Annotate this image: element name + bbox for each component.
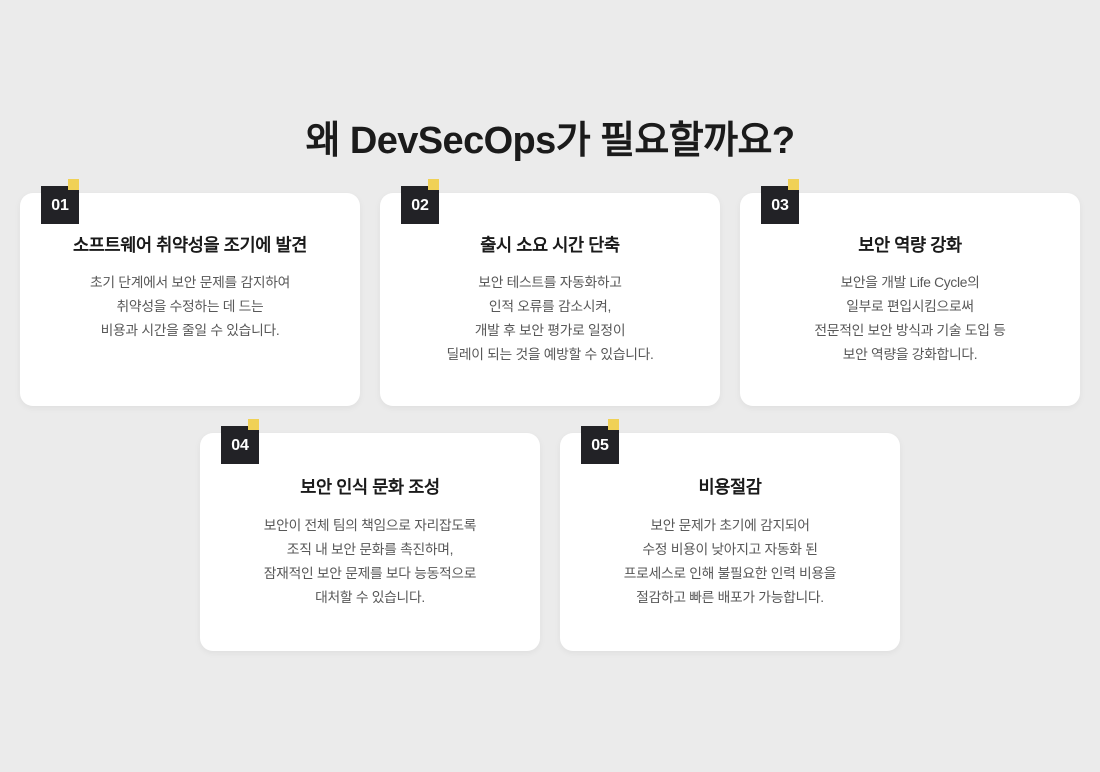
card-heading-01: 소프트웨어 취약성을 조기에 발견 [20, 233, 360, 258]
card-body-line: 보안을 개발 Life Cycle의 [754, 271, 1066, 295]
card-body-line: 비용과 시간을 줄일 수 있습니다. [34, 319, 346, 343]
card-heading-line: 보안 역량 강화 [858, 235, 962, 255]
badge-accent-square-icon [788, 179, 799, 190]
card-body-line: 일부로 편입시킴으로써 [754, 295, 1066, 319]
badge-accent-square-icon [248, 419, 259, 430]
card-body-line: 프로세스로 인해 불필요한 인력 비용을 [574, 562, 886, 586]
card-body-line: 잠재적인 보안 문제를 보다 능동적으로 [214, 562, 526, 586]
card-body-line: 대처할 수 있습니다. [214, 586, 526, 610]
benefit-card-01[interactable]: 01 소프트웨어 취약성을 조기에 발견 초기 단계에서 보안 문제를 감지하여… [20, 193, 360, 406]
card-body-line: 인적 오류를 감소시켜, [394, 295, 706, 319]
card-heading-line: 보안 인식 문화 조성 [300, 477, 440, 497]
card-heading-02: 출시 소요 시간 단축 [380, 233, 720, 258]
card-body-line: 수정 비용이 낮아지고 자동화 된 [574, 538, 886, 562]
benefit-cards-grid: 01 소프트웨어 취약성을 조기에 발견 초기 단계에서 보안 문제를 감지하여… [0, 0, 1100, 772]
badge-accent-square-icon [608, 419, 619, 430]
benefit-card-02[interactable]: 02 출시 소요 시간 단축 보안 테스트를 자동화하고 인적 오류를 감소시켜… [380, 193, 720, 406]
card-body-line: 보안 역량을 강화합니다. [754, 343, 1066, 367]
card-number-label: 05 [591, 438, 608, 454]
card-body-line: 초기 단계에서 보안 문제를 감지하여 [34, 271, 346, 295]
card-body-line: 딜레이 되는 것을 예방할 수 있습니다. [394, 343, 706, 367]
card-body-line: 보안 문제가 초기에 감지되어 [574, 514, 886, 538]
benefit-card-05[interactable]: 05 비용절감 보안 문제가 초기에 감지되어 수정 비용이 낮아지고 자동화 … [560, 433, 900, 651]
card-number-label: 01 [51, 198, 68, 214]
benefit-card-03[interactable]: 03 보안 역량 강화 보안을 개발 Life Cycle의 일부로 편입시킴으… [740, 193, 1080, 406]
card-heading-05: 비용절감 [560, 475, 900, 500]
card-number-badge-04: 04 [221, 426, 259, 464]
card-heading-line: 소프트웨어 취약성을 [73, 235, 219, 255]
card-body-02: 보안 테스트를 자동화하고 인적 오류를 감소시켜, 개발 후 보안 평가로 일… [380, 271, 720, 367]
card-heading-line: 출시 소요 시간 단축 [480, 235, 620, 255]
card-body-05: 보안 문제가 초기에 감지되어 수정 비용이 낮아지고 자동화 된 프로세스로 … [560, 514, 900, 610]
card-number-badge-05: 05 [581, 426, 619, 464]
card-body-01: 초기 단계에서 보안 문제를 감지하여 취약성을 수정하는 데 드는 비용과 시… [20, 271, 360, 343]
badge-accent-square-icon [68, 179, 79, 190]
benefit-card-04[interactable]: 04 보안 인식 문화 조성 보안이 전체 팀의 책임으로 자리잡도록 조직 내… [200, 433, 540, 651]
card-number-badge-02: 02 [401, 186, 439, 224]
card-heading-line: 조기에 발견 [224, 235, 307, 255]
card-body-line: 개발 후 보안 평가로 일정이 [394, 319, 706, 343]
card-heading-04: 보안 인식 문화 조성 [200, 475, 540, 500]
card-number-label: 04 [231, 438, 248, 454]
card-heading-03: 보안 역량 강화 [740, 233, 1080, 258]
card-body-line: 절감하고 빠른 배포가 가능합니다. [574, 586, 886, 610]
card-number-badge-01: 01 [41, 186, 79, 224]
card-body-04: 보안이 전체 팀의 책임으로 자리잡도록 조직 내 보안 문화를 촉진하며, 잠… [200, 514, 540, 610]
card-number-label: 02 [411, 198, 428, 214]
badge-accent-square-icon [428, 179, 439, 190]
card-body-line: 보안 테스트를 자동화하고 [394, 271, 706, 295]
card-body-line: 취약성을 수정하는 데 드는 [34, 295, 346, 319]
card-body-line: 전문적인 보안 방식과 기술 도입 등 [754, 319, 1066, 343]
card-body-line: 조직 내 보안 문화를 촉진하며, [214, 538, 526, 562]
card-body-line: 보안이 전체 팀의 책임으로 자리잡도록 [214, 514, 526, 538]
card-number-label: 03 [771, 198, 788, 214]
card-heading-line: 비용절감 [699, 477, 762, 497]
card-body-03: 보안을 개발 Life Cycle의 일부로 편입시킴으로써 전문적인 보안 방… [740, 271, 1080, 367]
card-number-badge-03: 03 [761, 186, 799, 224]
